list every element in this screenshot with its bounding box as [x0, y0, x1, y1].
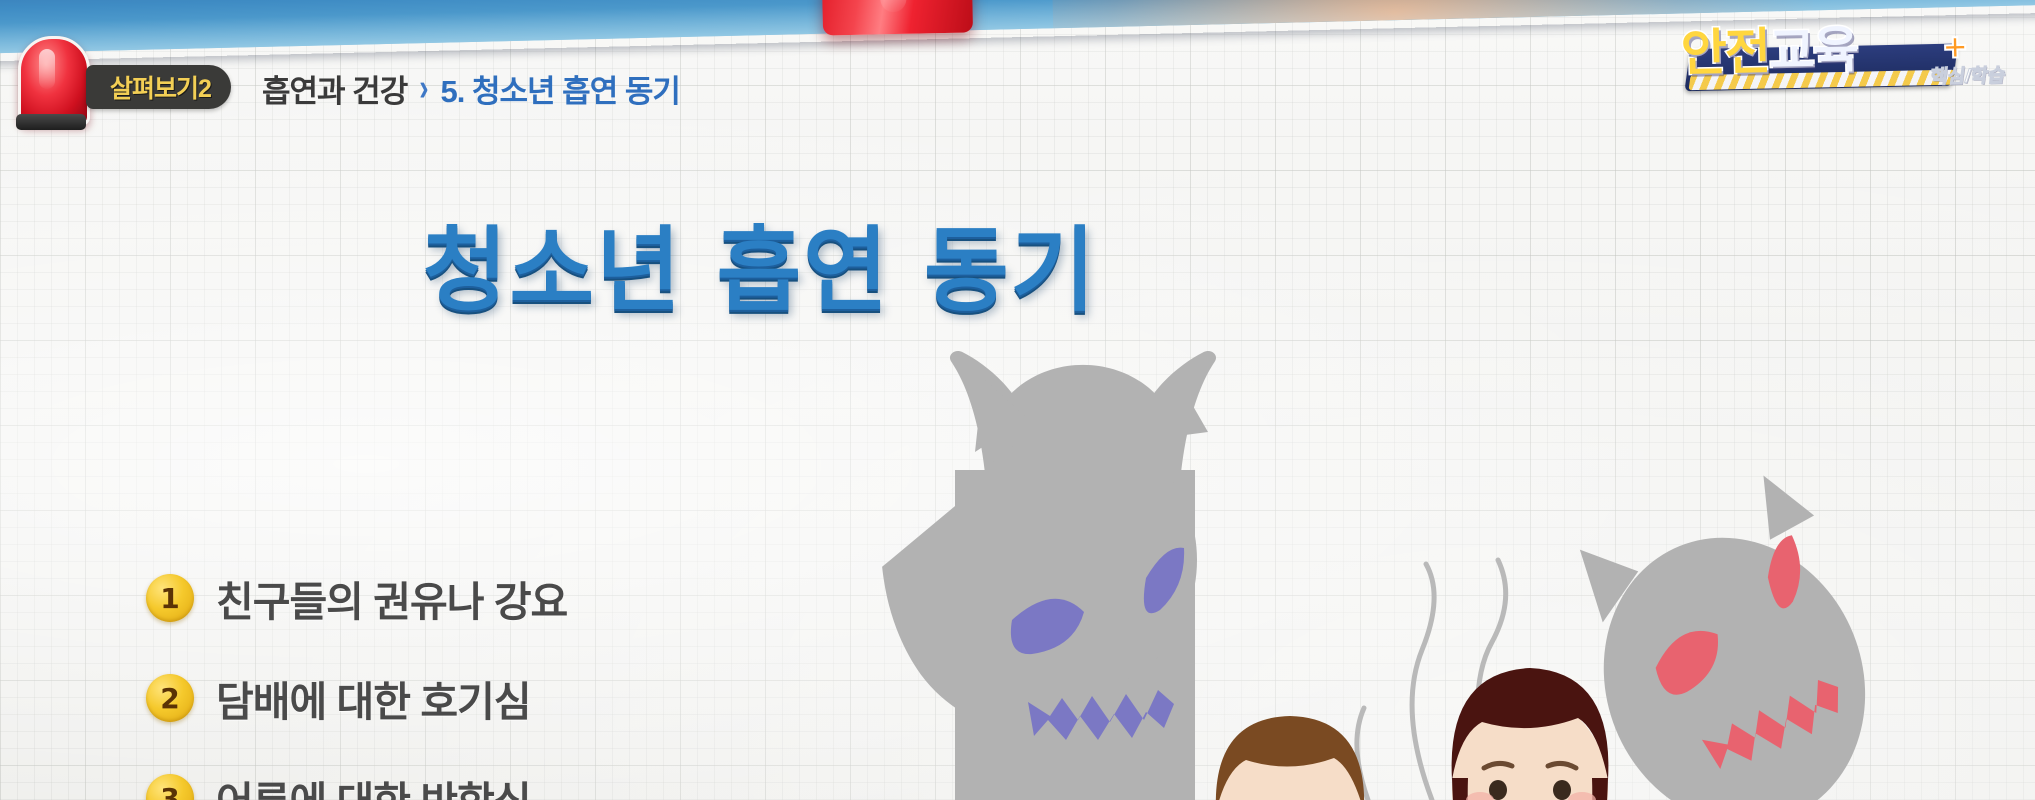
bullet-text: 담배에 대한 호기심 [216, 668, 531, 728]
siren-dome [18, 36, 90, 126]
breadcrumb-current: 5. 청소년 흡연 동기 [441, 66, 680, 111]
list-item: 3 어른에 대한 반항심 [146, 748, 906, 800]
bullet-list: 1 친구들의 권유나 강요 2 담배에 대한 호기심 3 어른에 대한 반항심 [146, 548, 906, 800]
slide-stage: 안전교육 + 핵심/학습 살펴보기2 흡연과 건강 › 5. 청소년 흡연 동기… [0, 0, 2035, 800]
siren-base [16, 114, 86, 130]
bullet-number: 1 [146, 574, 194, 622]
siren-light-icon [14, 36, 88, 132]
logo-word-part2: 교육 [1768, 21, 1857, 81]
chevron-right-icon: › [419, 66, 428, 109]
section-badge-label: 살펴보기2 [110, 69, 211, 105]
program-logo: 안전교육 + 핵심/학습 [1680, 3, 2002, 106]
siren-light-top-icon [821, 0, 973, 36]
breadcrumb-section[interactable]: 흡연과 건강 [262, 66, 407, 111]
list-item: 2 담배에 대한 호기심 [146, 648, 906, 748]
page-title: 청소년 흡연 동기 [0, 196, 1520, 329]
bullet-number: 3 [146, 774, 194, 800]
bullet-text: 어른에 대한 반항심 [216, 768, 531, 800]
siren-highlight [39, 49, 55, 89]
bullet-text: 친구들의 권유나 강요 [216, 568, 567, 628]
section-badge[interactable]: 살펴보기2 [86, 65, 231, 109]
breadcrumb: 흡연과 건강 › 5. 청소년 흡연 동기 [262, 66, 680, 110]
logo-word-part1: 안전 [1680, 23, 1769, 83]
bullet-number: 2 [146, 674, 194, 722]
list-item: 1 친구들의 권유나 강요 [146, 548, 906, 648]
logo-subtitle: 핵심/학습 [1928, 61, 2007, 90]
